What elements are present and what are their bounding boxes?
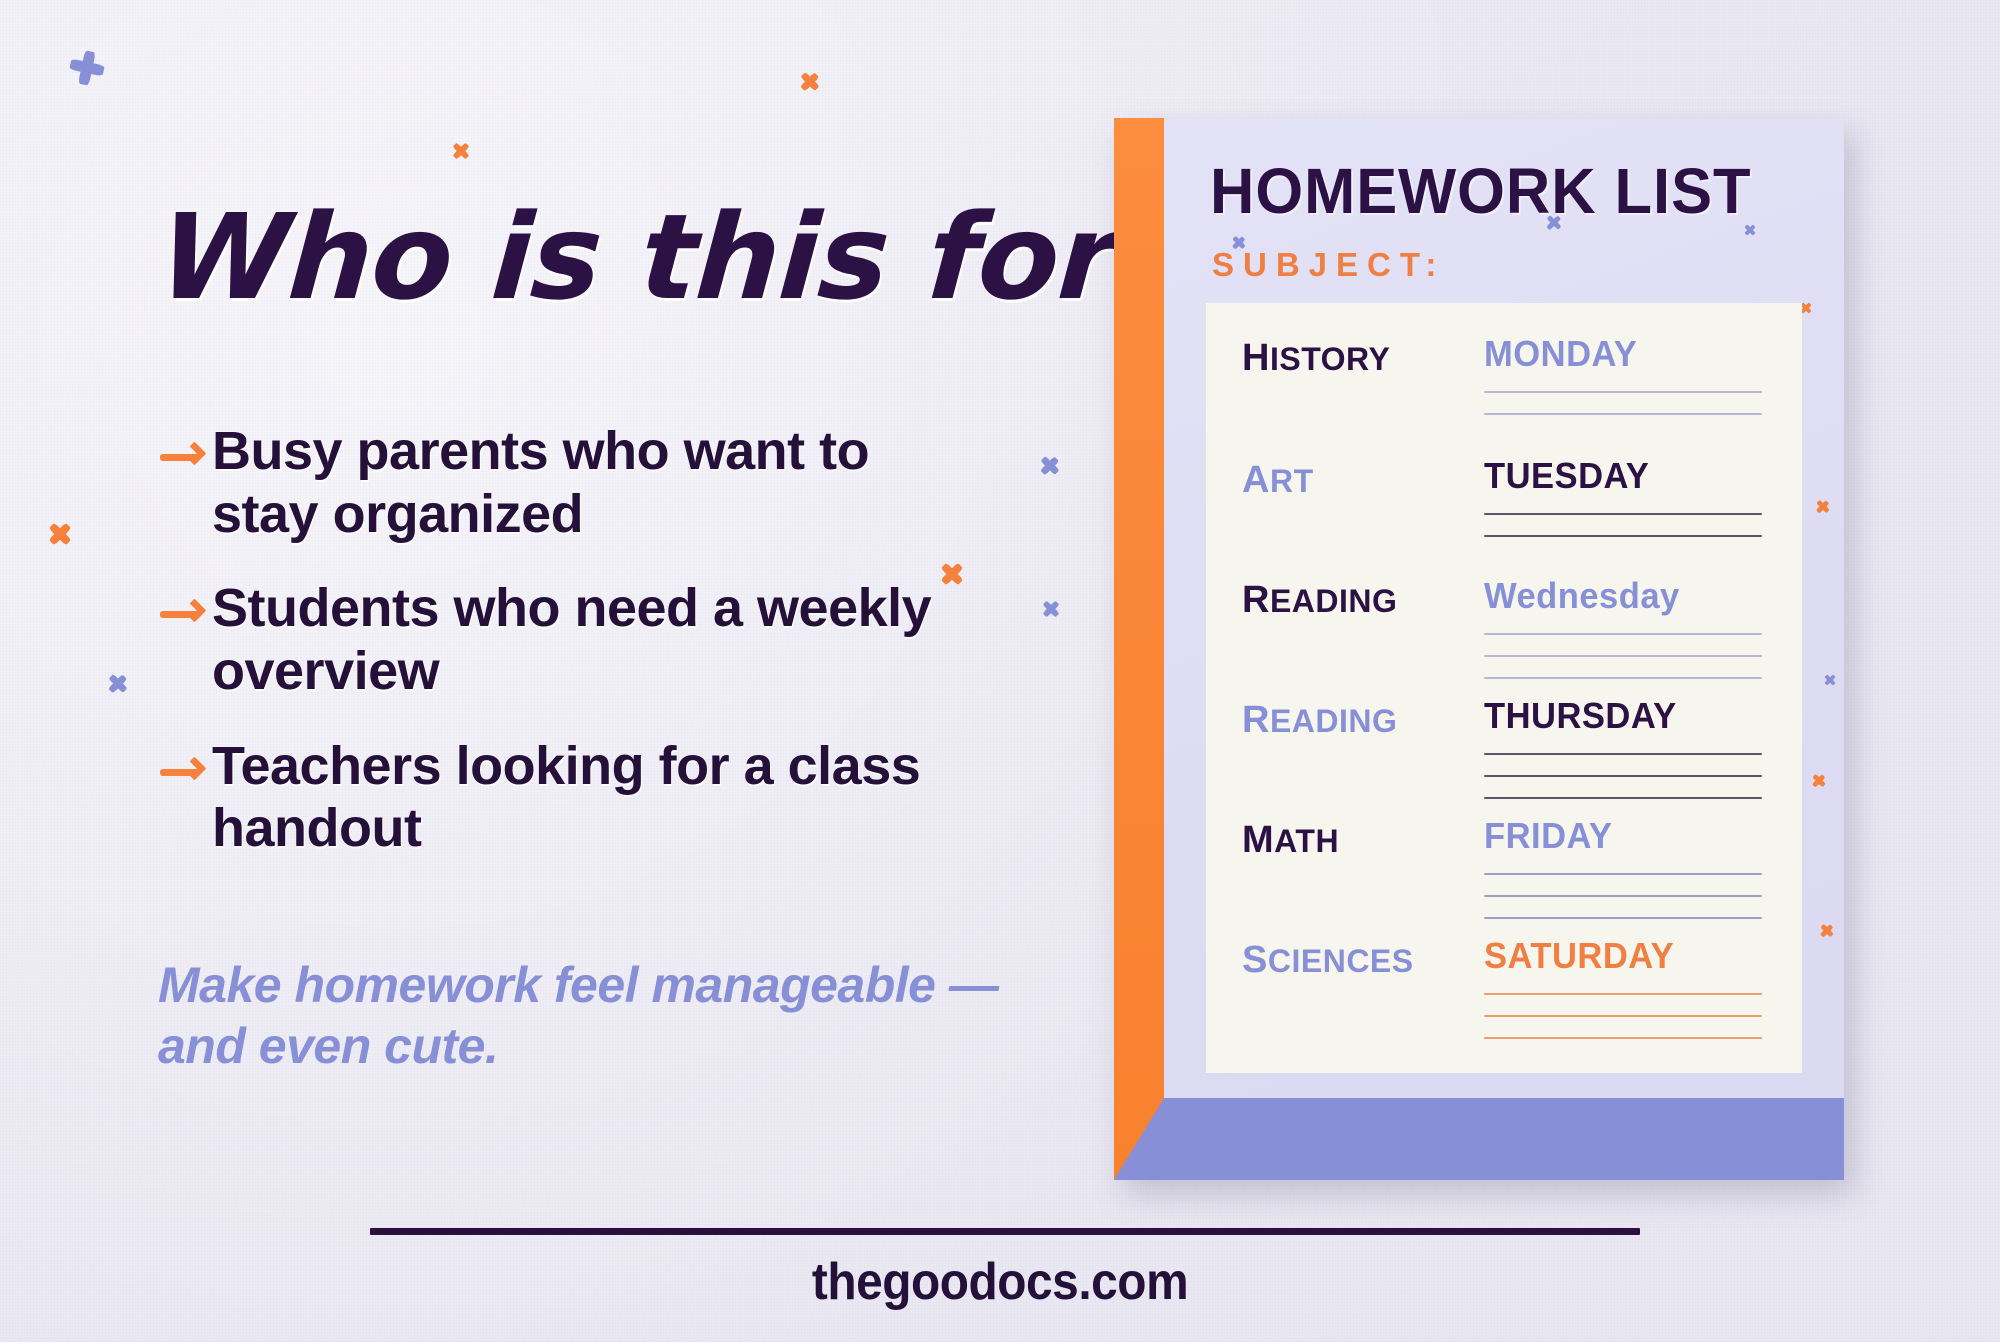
cross-shape: [1820, 924, 1833, 937]
write-line[interactable]: [1484, 917, 1762, 919]
write-line[interactable]: [1484, 1015, 1762, 1017]
row-subject-label: READING: [1242, 699, 1397, 742]
cross-decoration-icon: [1824, 674, 1835, 685]
write-line[interactable]: [1484, 513, 1762, 515]
footer-website-url: thegoodocs.com: [80, 1252, 1920, 1312]
arrow-right-icon: [158, 747, 212, 797]
row-day-label: Wednesday: [1484, 575, 1680, 617]
row-write-lines[interactable]: [1484, 993, 1762, 1059]
row-day-label: SATURDAY: [1484, 935, 1674, 977]
homework-row: ARTTUESDAY: [1206, 455, 1802, 579]
write-line[interactable]: [1484, 873, 1762, 875]
homework-row: HISTORYMONDAY: [1206, 333, 1802, 457]
list-item-label: Busy parents who want to stay organized: [212, 420, 958, 545]
cross-shape: [1816, 500, 1829, 513]
cross-shape: [1812, 774, 1825, 787]
row-day-label: MONDAY: [1484, 333, 1637, 375]
row-day-label: THURSDAY: [1484, 695, 1677, 737]
benefits-list: Busy parents who want to stay organizedS…: [158, 420, 958, 892]
card-orange-spine: [1114, 118, 1164, 1180]
row-write-lines[interactable]: [1484, 873, 1762, 939]
write-line[interactable]: [1484, 535, 1762, 537]
write-line[interactable]: [1484, 775, 1762, 777]
row-write-lines[interactable]: [1484, 633, 1762, 699]
write-line[interactable]: [1484, 391, 1762, 393]
write-line[interactable]: [1484, 1037, 1762, 1039]
footer-divider: [370, 1228, 1640, 1235]
subject-column-label: SUBJECT:: [1212, 246, 1445, 284]
homework-row: READINGTHURSDAY: [1206, 695, 1802, 819]
write-line[interactable]: [1484, 413, 1762, 415]
homework-row: SCIENCESSATURDAY: [1206, 935, 1802, 1059]
row-day-label: TUESDAY: [1484, 455, 1649, 497]
arrow-right-icon: [158, 432, 212, 482]
page-title: Who is this for?: [156, 198, 1188, 316]
write-line[interactable]: [1484, 655, 1762, 657]
row-subject-label: HISTORY: [1242, 337, 1390, 380]
write-line[interactable]: [1484, 797, 1762, 799]
poster-canvas: Who is this for? Busy parents who want t…: [0, 0, 2000, 1342]
row-subject-label: READING: [1242, 579, 1397, 622]
cross-decoration-icon: [1816, 500, 1829, 513]
cross-decoration-icon: [1812, 774, 1825, 787]
list-item: Teachers looking for a class handout: [158, 735, 958, 860]
write-line[interactable]: [1484, 677, 1762, 679]
homework-sheet: HISTORYMONDAYARTTUESDAYREADINGWednesdayR…: [1206, 303, 1802, 1073]
cross-decoration-icon: [1800, 302, 1811, 313]
row-subject-label: SCIENCES: [1242, 939, 1414, 982]
homework-row: READINGWednesday: [1206, 575, 1802, 699]
row-subject-label: MATH: [1242, 819, 1339, 862]
list-item-label: Teachers looking for a class handout: [212, 735, 958, 860]
card-footer-band: [1114, 1098, 1844, 1180]
row-subject-label: ART: [1242, 459, 1314, 502]
cross-decoration-icon: [1820, 924, 1833, 937]
list-item: Busy parents who want to stay organized: [158, 420, 958, 545]
write-line[interactable]: [1484, 895, 1762, 897]
list-item: Students who need a weekly overview: [158, 577, 958, 702]
cross-shape: [1800, 302, 1811, 313]
tagline-text: Make homework feel manageable — and even…: [158, 955, 1038, 1077]
cross-shape: [1824, 674, 1835, 685]
homework-row: MATHFRIDAY: [1206, 815, 1802, 939]
row-write-lines[interactable]: [1484, 753, 1762, 819]
card-body: HOMEWORK LIST SUBJECT: HISTORYMONDAYARTT…: [1164, 118, 1844, 1180]
arrow-right-icon: [158, 589, 212, 639]
row-write-lines[interactable]: [1484, 391, 1762, 435]
card-title: HOMEWORK LIST: [1210, 154, 1752, 228]
list-item-label: Students who need a weekly overview: [212, 577, 958, 702]
left-content-column: Who is this for? Busy parents who want t…: [0, 0, 1070, 1342]
row-write-lines[interactable]: [1484, 513, 1762, 557]
write-line[interactable]: [1484, 633, 1762, 635]
row-day-label: FRIDAY: [1484, 815, 1612, 857]
write-line[interactable]: [1484, 993, 1762, 995]
homework-list-card: HOMEWORK LIST SUBJECT: HISTORYMONDAYARTT…: [1114, 118, 1844, 1180]
write-line[interactable]: [1484, 753, 1762, 755]
